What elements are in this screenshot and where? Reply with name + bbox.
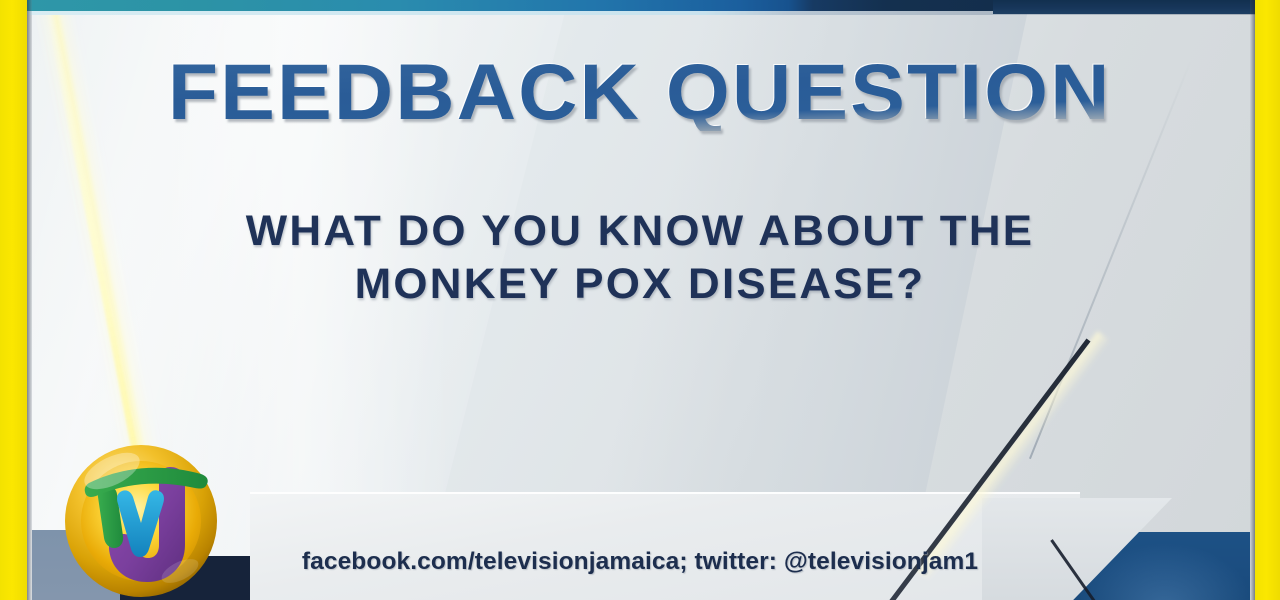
left-yellow-border [0, 0, 27, 600]
right-yellow-border [1255, 0, 1280, 600]
question-line-1: WHAT DO YOU KNOW ABOUT THE [0, 205, 1280, 258]
broadcast-lower-third-graphic: FEEDBACK QUESTION WHAT DO YOU KNOW ABOUT… [0, 0, 1280, 600]
question-container: WHAT DO YOU KNOW ABOUT THE MONKEY POX DI… [0, 205, 1280, 311]
segment-title: FEEDBACK QUESTION [168, 52, 1112, 131]
top-strip-navy-section [993, 0, 1255, 14]
tvj-logo [62, 443, 220, 600]
segment-title-container: FEEDBACK QUESTION [0, 52, 1280, 131]
left-panel-seam [27, 0, 32, 600]
question-line-2: MONKEY POX DISEASE? [0, 258, 1280, 311]
